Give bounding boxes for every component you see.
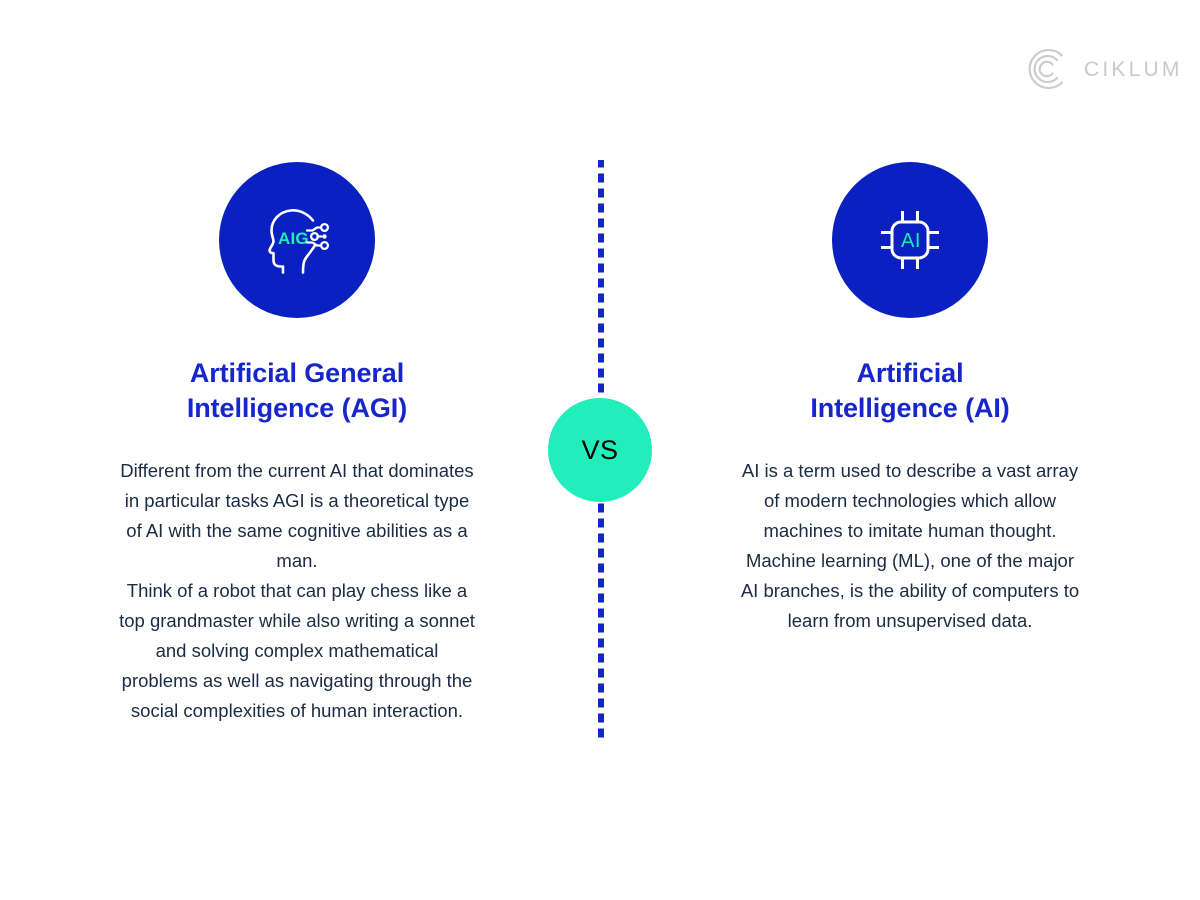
- comparison-column-right: AI Artificial Intelligence (AI) AI is a …: [720, 162, 1100, 636]
- brand-logo: CIKLUM: [1026, 47, 1183, 91]
- agi-title: Artificial General Intelligence (AGI): [187, 356, 407, 426]
- svg-text:AI: AI: [901, 230, 921, 252]
- cpu-chip-icon: AI: [864, 194, 956, 286]
- comparison-column-left: AIG Artificial General Intelligence (AGI…: [107, 162, 487, 726]
- head-profile-neural-network-icon: AIG: [251, 194, 343, 286]
- brand-wordmark: CIKLUM: [1084, 59, 1183, 80]
- agi-badge: AIG: [219, 162, 375, 318]
- ai-title: Artificial Intelligence (AI): [810, 356, 1009, 426]
- ciklum-arcs-logo-icon: [1026, 47, 1070, 91]
- agi-description: Different from the current AI that domin…: [117, 456, 477, 726]
- ai-description: AI is a term used to describe a vast arr…: [740, 456, 1080, 636]
- vs-label: VS: [581, 437, 618, 464]
- ai-badge: AI: [832, 162, 988, 318]
- vs-badge: VS: [548, 398, 652, 502]
- svg-text:AIG: AIG: [278, 229, 309, 248]
